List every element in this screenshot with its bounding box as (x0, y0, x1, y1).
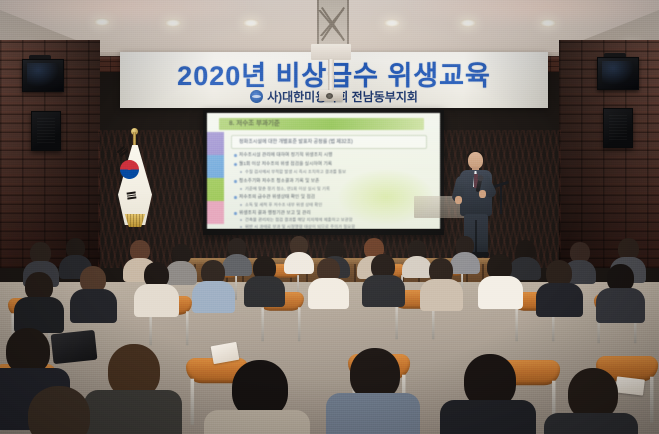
presenter-right-hand (479, 190, 486, 198)
trigram-gon-icon (127, 191, 137, 199)
ceiling-projector-rig (311, 0, 351, 112)
downlight-icon (460, 19, 476, 27)
person-shoulders (165, 261, 197, 285)
slide-bullet: 저수조시설 관리에 대하여 정기적 위생조치 시행 (239, 152, 332, 158)
slide-bullet: 수질 검사에서 부적합 발생 시 즉시 조치하고 결과를 통보 (245, 169, 346, 175)
south-korean-national-flag (112, 132, 162, 236)
accent-pink (207, 201, 224, 224)
ceiling-projector-icon (319, 90, 343, 101)
downlight-icon (94, 18, 110, 26)
pa-speaker-icon (603, 108, 633, 148)
flag-cloth (118, 145, 152, 225)
person-shoulders (450, 252, 480, 274)
lift-column (328, 59, 334, 93)
person-shoulders (222, 254, 252, 276)
pa-speaker-icon (31, 111, 61, 151)
person-shoulders (308, 278, 349, 309)
downlight-icon (243, 19, 259, 27)
person-shoulders (284, 252, 314, 274)
person-shoulders (192, 281, 235, 313)
lift-plate (311, 44, 351, 60)
person-shoulders (326, 393, 420, 434)
slide-title: 8. 저수조 부과기준 (229, 118, 409, 130)
slide-bullet: 저수조의 급수관 위생상태 확인 및 점검 (239, 194, 315, 200)
person-shoulders (478, 276, 523, 309)
person-shoulders (70, 289, 117, 323)
slide-lead-text: 정화조시설에 대한 개별표준 발표자 공정률 (법 제32조) (239, 138, 353, 145)
accent-purple (207, 132, 224, 155)
person-shoulders (244, 276, 285, 307)
handbag-icon (51, 330, 98, 364)
person-shoulders (420, 279, 463, 311)
slide-bullet: 기준에 맞춘 정기 청소, 연1회 이상 실시 및 기록 (245, 186, 330, 192)
presenter-left-hand (455, 196, 462, 204)
slide-bullet: 소독 및 세척 후 저수조 내부 위생 상태 확인 (245, 202, 322, 208)
person-shoulders (134, 284, 179, 317)
accent-green (207, 178, 224, 201)
audience (0, 236, 659, 434)
ceiling-light-wash-left (0, 0, 260, 28)
flat-screen-monitor-icon (597, 57, 639, 90)
person-shoulders (536, 283, 583, 317)
presentation-slide: 8. 저수조 부과기준 정화조시설에 대한 개별표준 발표자 공정률 (법 제3… (207, 113, 440, 229)
slide-bullet: 위생조치 결과 행정기관 보고 및 관리 (239, 210, 311, 216)
chair-legs (260, 307, 303, 343)
screen-bottom-bar (203, 229, 444, 235)
flat-screen-monitor-icon (22, 59, 64, 92)
person-shoulders (544, 413, 638, 434)
association-emblem-icon (250, 90, 263, 103)
downlight-icon (540, 19, 556, 27)
downlight-icon (165, 19, 181, 27)
slide-bullet: 건축물 관리자는 점검 결과를 해당 지자체에 제출하고 보관함 (245, 217, 353, 223)
microphone-stand-icon (500, 186, 502, 214)
projector-lens-icon (326, 93, 333, 99)
person-shoulders (204, 410, 310, 434)
downlight-icon (384, 19, 400, 27)
slide-lead-box: 정화조시설에 대한 개별표준 발표자 공정률 (법 제32조) (231, 135, 427, 149)
person-shoulders (402, 256, 432, 278)
handout-paper (615, 376, 645, 395)
person-shoulders (596, 288, 645, 323)
slide-bullet: 월1회 이상 저수조의 위생 점검을 실시하여 기록 (239, 161, 332, 167)
ceiling-light-wash-right (399, 0, 659, 28)
trigram-geon-icon (117, 146, 128, 157)
slide-bullet: 청소주기와 저수조 청소결과 기록 및 보존 (239, 178, 319, 184)
person-shoulders (84, 390, 182, 434)
scissor-lift-cross-brace (317, 10, 345, 36)
projection-screen: 8. 저수조 부과기준 정화조시설에 대한 개별표준 발표자 공정률 (법 제3… (203, 110, 444, 235)
slide-accent-strip (207, 132, 224, 224)
taeguk-symbol-icon (120, 160, 139, 179)
person-shoulders (440, 400, 536, 434)
person-head (28, 386, 90, 434)
auditorium-photo: 2020년 비상급수 위생교육 사)대한미용사회 전남동부지회 8. 저수조 부… (0, 0, 659, 434)
person-shoulders (362, 275, 405, 307)
accent-blue (207, 155, 224, 178)
